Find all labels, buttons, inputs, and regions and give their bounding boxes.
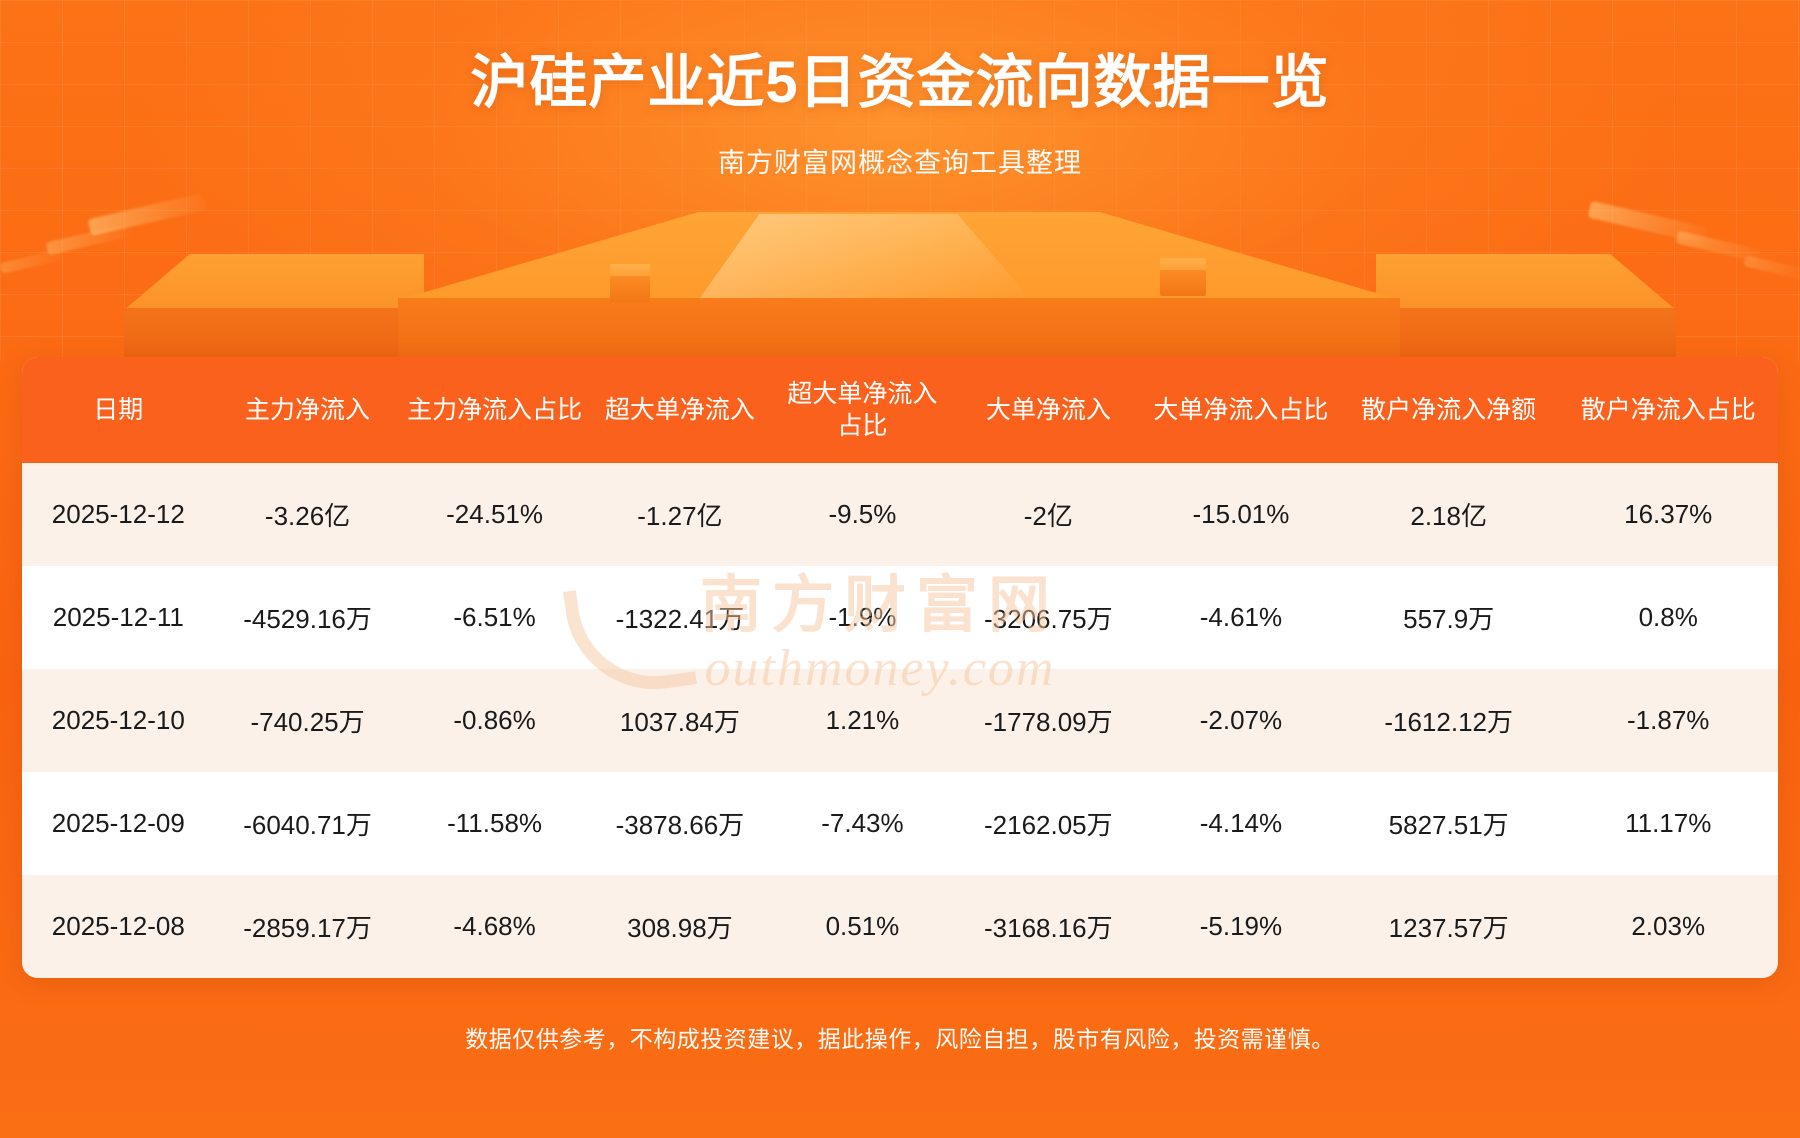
cell-main-net-inflow: -3.26亿 [215, 463, 401, 566]
table-row: 2025-12-10 -740.25万 -0.86% 1037.84万 1.21… [22, 669, 1778, 772]
cell-large-net-inflow-pct: -4.14% [1143, 772, 1339, 875]
cell-large-net-inflow: -3168.16万 [954, 875, 1143, 978]
column-header-date[interactable]: 日期 [22, 357, 215, 463]
cell-retail-net-amount: -1612.12万 [1339, 669, 1559, 772]
podium-center-front [398, 298, 1400, 362]
podium-left-front [124, 308, 424, 362]
podium-graphic [0, 212, 1800, 362]
column-header-xl-net-inflow-pct[interactable]: 超大单净流入占比 [771, 357, 954, 463]
cell-main-net-inflow: -4529.16万 [215, 566, 401, 669]
cell-xl-net-inflow: -3878.66万 [589, 772, 772, 875]
cell-xl-net-inflow-pct: 1.21% [771, 669, 954, 772]
cell-main-net-inflow: -2859.17万 [215, 875, 401, 978]
fund-flow-table: 日期 主力净流入 主力净流入占比 超大单净流入 超大单净流入占比 大单净流入 大… [22, 357, 1778, 978]
cell-main-net-inflow-pct: -24.51% [401, 463, 589, 566]
podium-left-top [124, 254, 424, 310]
cell-large-net-inflow: -3206.75万 [954, 566, 1143, 669]
cell-date: 2025-12-08 [22, 875, 215, 978]
cell-xl-net-inflow: 1037.84万 [589, 669, 772, 772]
cell-large-net-inflow-pct: -2.07% [1143, 669, 1339, 772]
column-header-xl-net-inflow[interactable]: 超大单净流入 [589, 357, 772, 463]
column-header-retail-net-amount[interactable]: 散户净流入净额 [1339, 357, 1559, 463]
table-row: 2025-12-09 -6040.71万 -11.58% -3878.66万 -… [22, 772, 1778, 875]
cell-retail-net-amount: 1237.57万 [1339, 875, 1559, 978]
cell-retail-net-amount: 557.9万 [1339, 566, 1559, 669]
podium-cube [610, 264, 650, 304]
footer-disclaimer: 数据仅供参考，不构成投资建议，据此操作，风险自担，股市有风险，投资需谨慎。 [0, 1020, 1800, 1054]
cell-large-net-inflow-pct: -4.61% [1143, 566, 1339, 669]
column-header-main-net-inflow-pct[interactable]: 主力净流入占比 [401, 357, 589, 463]
cell-large-net-inflow: -1778.09万 [954, 669, 1143, 772]
table-row: 2025-12-08 -2859.17万 -4.68% 308.98万 0.51… [22, 875, 1778, 978]
cell-main-net-inflow-pct: -4.68% [401, 875, 589, 978]
cell-date: 2025-12-09 [22, 772, 215, 875]
cell-xl-net-inflow: -1.27亿 [589, 463, 772, 566]
cell-large-net-inflow: -2亿 [954, 463, 1143, 566]
cell-large-net-inflow: -2162.05万 [954, 772, 1143, 875]
cell-retail-net-pct: 0.8% [1558, 566, 1778, 669]
cell-date: 2025-12-11 [22, 566, 215, 669]
cell-main-net-inflow-pct: -0.86% [401, 669, 589, 772]
cell-main-net-inflow: -740.25万 [215, 669, 401, 772]
column-header-large-net-inflow[interactable]: 大单净流入 [954, 357, 1143, 463]
table-header-row: 日期 主力净流入 主力净流入占比 超大单净流入 超大单净流入占比 大单净流入 大… [22, 357, 1778, 463]
cell-retail-net-pct: 11.17% [1558, 772, 1778, 875]
cell-date: 2025-12-10 [22, 669, 215, 772]
cell-large-net-inflow-pct: -15.01% [1143, 463, 1339, 566]
page-title: 沪硅产业近5日资金流向数据一览 [0, 48, 1800, 119]
column-header-main-net-inflow[interactable]: 主力净流入 [215, 357, 401, 463]
cell-xl-net-inflow-pct: -7.43% [771, 772, 954, 875]
cell-retail-net-amount: 2.18亿 [1339, 463, 1559, 566]
cell-retail-net-pct: 2.03% [1558, 875, 1778, 978]
cell-retail-net-amount: 5827.51万 [1339, 772, 1559, 875]
page-header: 沪硅产业近5日资金流向数据一览 南方财富网概念查询工具整理 [0, 0, 1800, 180]
cell-date: 2025-12-12 [22, 463, 215, 566]
table-row: 2025-12-11 -4529.16万 -6.51% -1322.41万 -1… [22, 566, 1778, 669]
cell-main-net-inflow-pct: -6.51% [401, 566, 589, 669]
cell-main-net-inflow: -6040.71万 [215, 772, 401, 875]
cell-retail-net-pct: 16.37% [1558, 463, 1778, 566]
cell-xl-net-inflow: 308.98万 [589, 875, 772, 978]
cell-xl-net-inflow-pct: 0.51% [771, 875, 954, 978]
cell-xl-net-inflow: -1322.41万 [589, 566, 772, 669]
fund-flow-table-card: 日期 主力净流入 主力净流入占比 超大单净流入 超大单净流入占比 大单净流入 大… [22, 357, 1778, 978]
podium-right-front [1376, 308, 1676, 362]
cell-retail-net-pct: -1.87% [1558, 669, 1778, 772]
cell-xl-net-inflow-pct: -9.5% [771, 463, 954, 566]
page-subtitle: 南方财富网概念查询工具整理 [0, 141, 1800, 180]
table-row: 2025-12-12 -3.26亿 -24.51% -1.27亿 -9.5% -… [22, 463, 1778, 566]
column-header-retail-net-pct[interactable]: 散户净流入占比 [1558, 357, 1778, 463]
cell-main-net-inflow-pct: -11.58% [401, 772, 589, 875]
podium-cube [1160, 258, 1206, 302]
cell-xl-net-inflow-pct: -1.9% [771, 566, 954, 669]
cell-large-net-inflow-pct: -5.19% [1143, 875, 1339, 978]
podium-right-top [1376, 254, 1676, 310]
column-header-large-net-inflow-pct[interactable]: 大单净流入占比 [1143, 357, 1339, 463]
